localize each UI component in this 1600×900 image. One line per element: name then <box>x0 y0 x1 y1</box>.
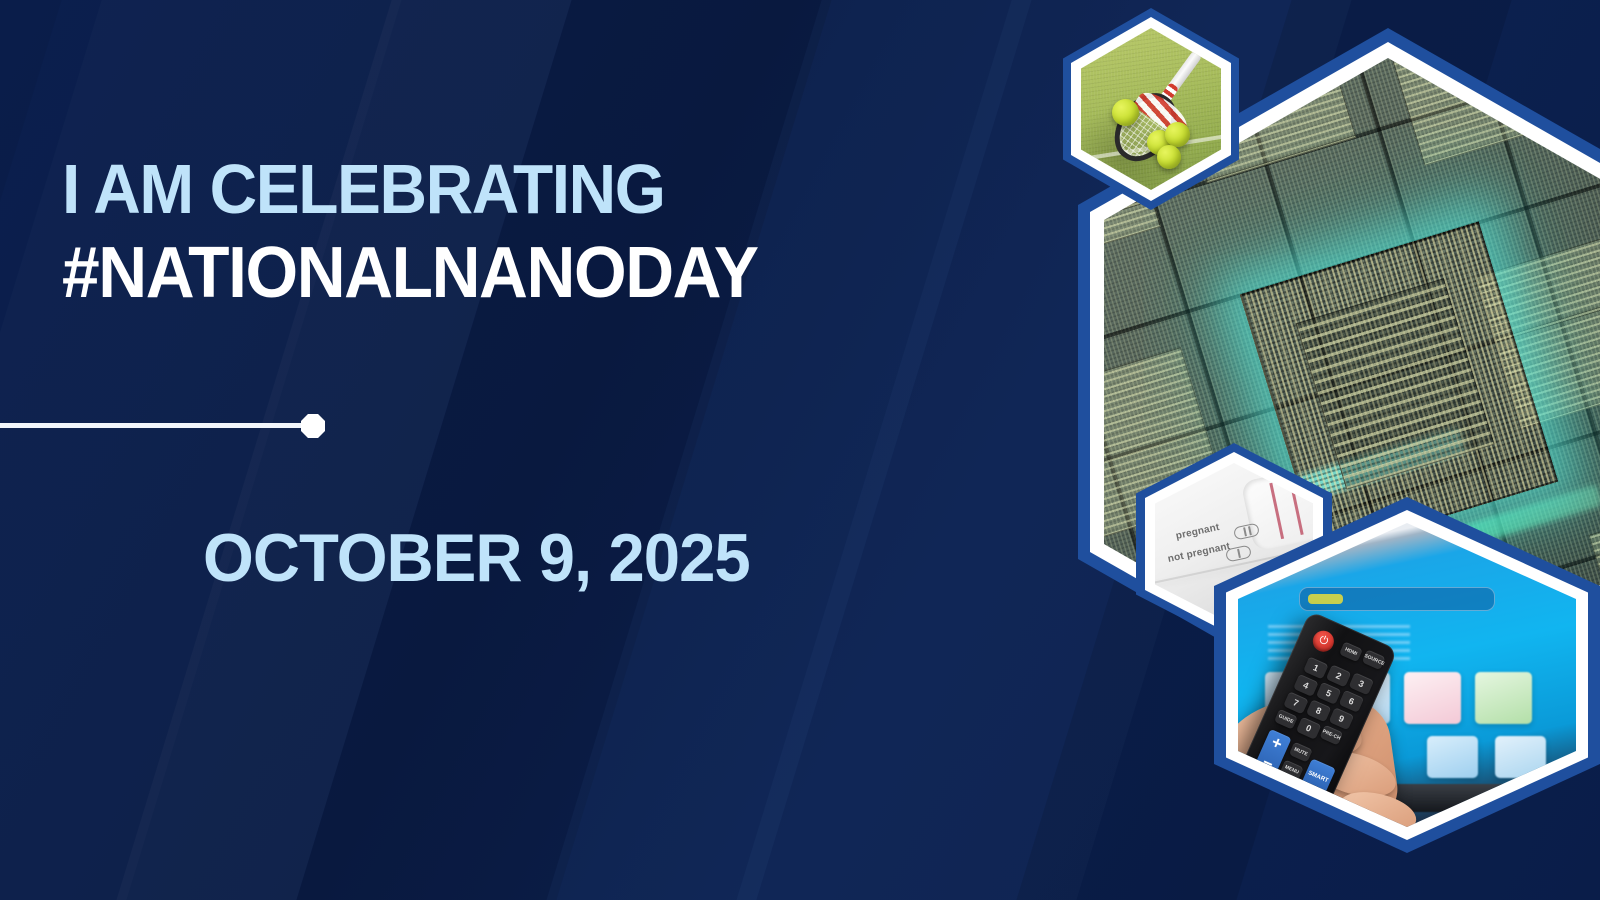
remote-key-source: SOURCE <box>1362 650 1386 671</box>
remote-key-guide: GUIDE <box>1274 709 1298 730</box>
tv-ui-progress-bar <box>1299 587 1495 611</box>
remote-key-mute: MUTE <box>1289 742 1313 763</box>
remote-key-prech: PRE-CH <box>1320 725 1344 746</box>
tv-ui-tile <box>1427 736 1478 779</box>
tennis-ball <box>1165 122 1190 147</box>
tv-ui-tile <box>1404 672 1461 724</box>
poster-canvas: I AM CELEBRATING #NATIONALNANODAY OCTOBE… <box>0 0 1600 900</box>
remote-key-hdmi: HDMI <box>1339 642 1363 663</box>
tennis-ball <box>1112 99 1139 126</box>
label-not-pregnant: not pregnant <box>1166 541 1230 565</box>
hexagon-collage: pregnant not pregnant <box>0 0 1600 900</box>
remote-key-extra <box>1252 802 1276 823</box>
remote-key-0: 0 <box>1296 717 1322 740</box>
tennis-ball <box>1157 145 1181 169</box>
power-icon <box>1310 628 1338 656</box>
test-stripe <box>1269 483 1284 539</box>
label-pregnant: pregnant <box>1174 522 1220 542</box>
tv-ui-tile <box>1475 672 1532 724</box>
